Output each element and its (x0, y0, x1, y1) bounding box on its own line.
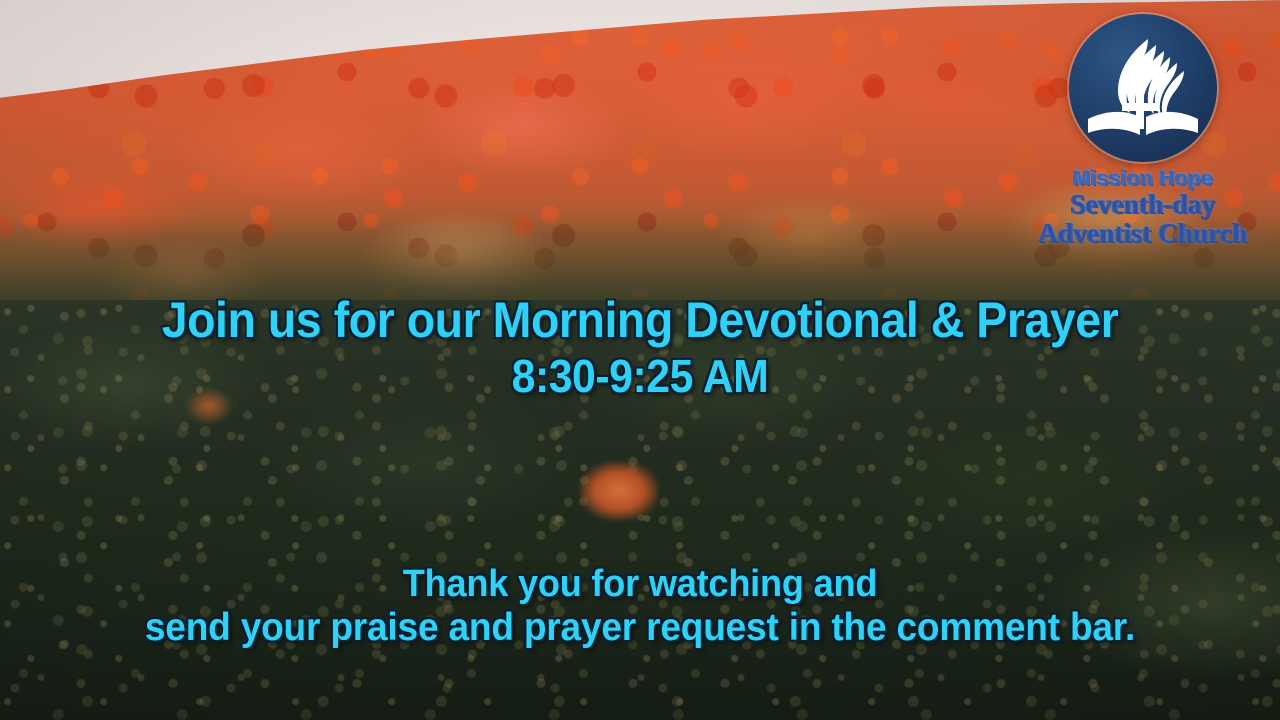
isolated-orange-tree (580, 462, 658, 520)
footer-line-1: Thank you for watching and (32, 562, 1248, 606)
headline-overlay: Join us for our Morning Devotional & Pra… (0, 292, 1280, 404)
adventist-emblem-icon (1069, 14, 1217, 162)
footer-line-2: send your praise and prayer request in t… (32, 606, 1248, 650)
church-logo: Mission Hope Seventh-day Adventist Churc… (1014, 14, 1272, 248)
logo-line-seventh-day: Seventh-day (1014, 190, 1272, 219)
logo-line-adventist-church: Adventist Church (1014, 219, 1272, 248)
headline-line-1: Join us for our Morning Devotional & Pra… (45, 292, 1235, 348)
stream-frame: Mission Hope Seventh-day Adventist Churc… (0, 0, 1280, 720)
logo-line-mission-hope: Mission Hope (1014, 168, 1272, 190)
headline-line-2-time: 8:30-9:25 AM (45, 348, 1235, 404)
footer-overlay: Thank you for watching and send your pra… (0, 562, 1280, 650)
